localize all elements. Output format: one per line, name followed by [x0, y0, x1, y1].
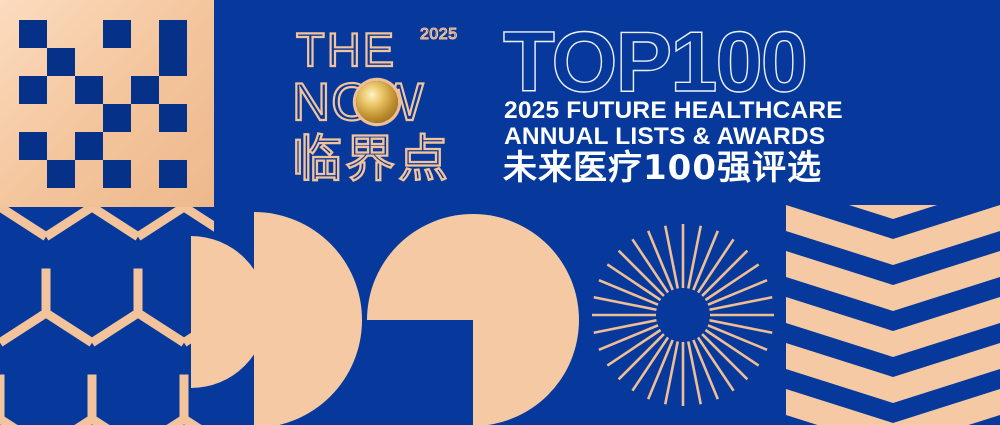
checkerboard-cell	[131, 132, 159, 160]
logo-word-the: THE	[296, 26, 396, 73]
checkerboard-cell	[19, 48, 47, 76]
semicircle-large	[254, 212, 362, 425]
headline-block: TOP100 2025 FUTURE HEALTHCARE ANNUAL LIS…	[503, 20, 973, 195]
checkerboard-cell	[103, 48, 131, 76]
checkerboard-cell	[159, 48, 187, 76]
checkerboard-cell	[131, 20, 159, 48]
checkerboard-cell	[131, 76, 159, 104]
checkerboard-cell	[159, 76, 187, 104]
hexagon-lattice-edge	[138, 419, 184, 425]
diagonal-stripe	[893, 297, 1000, 357]
hexagon-lattice-edge	[46, 313, 92, 343]
checkerboard-cell	[47, 132, 75, 160]
checkerboard-cell	[47, 48, 75, 76]
notched-disc-svg	[367, 210, 579, 425]
logo-chinese-name: 临界点	[292, 134, 451, 184]
checkerboard-cell	[19, 104, 47, 132]
checkerboard-cell	[131, 104, 159, 132]
checkerboard-cell	[103, 76, 131, 104]
checkerboard-cell	[19, 76, 47, 104]
headline-top100: TOP100	[503, 20, 806, 105]
checkerboard-cell	[75, 104, 103, 132]
diagonal-stripe	[786, 297, 893, 357]
checkerboard-cell	[103, 20, 131, 48]
hexagon-lattice-edge	[0, 419, 46, 425]
checkerboard-cell	[131, 48, 159, 76]
logo-year-2025: 2025	[420, 27, 458, 43]
checkerboard-cell	[75, 160, 103, 188]
sunburst-ray	[619, 251, 664, 296]
headline-english-line2: ANNUAL LISTS & AWARDS	[504, 125, 825, 150]
checkerboard-cell	[75, 48, 103, 76]
hexagon-lattice-edge	[0, 313, 46, 343]
hexagon-lattice-edge	[92, 207, 138, 237]
sunburst-decoration	[590, 222, 776, 408]
hexagon-lattice-edge	[184, 207, 214, 237]
checkerboard-cell	[19, 132, 47, 160]
diagonal-stripes-svg	[786, 205, 1000, 425]
checkerboard-cell	[131, 160, 159, 188]
checkerboard-cell	[103, 104, 131, 132]
headline-english-line1: 2025 FUTURE HEALTHCARE	[504, 99, 843, 124]
checkerboard-cell	[47, 104, 75, 132]
disc-notch	[367, 320, 473, 425]
hexagon-lattice-edge	[46, 207, 92, 237]
sunburst-svg	[590, 222, 776, 408]
checkerboard-cell	[19, 20, 47, 48]
checkerboard-cell	[159, 132, 187, 160]
checkerboard-cell	[47, 76, 75, 104]
sunburst-ray	[702, 334, 747, 379]
sunburst-ray	[702, 251, 747, 296]
checkerboard-cell	[75, 76, 103, 104]
notched-disc-decoration	[367, 210, 579, 425]
diagonal-stripe	[786, 205, 893, 265]
diagonal-stripe	[893, 251, 1000, 311]
checkerboard-cell	[47, 160, 75, 188]
checkerboard-cell	[75, 132, 103, 160]
diagonal-stripe	[893, 205, 1000, 265]
checkerboard-cell	[159, 20, 187, 48]
diagonal-stripe	[786, 343, 893, 403]
gold-orb-icon	[356, 81, 398, 123]
headline-chinese-line: 未来医疗100强评选	[503, 151, 822, 185]
hexagon-lattice-edge	[46, 419, 92, 425]
hexagon-lattice-edge	[184, 419, 214, 425]
hexagon-lattice-svg	[0, 207, 214, 425]
checkerboard-cell	[47, 20, 75, 48]
hexagon-lattice-edge	[0, 207, 46, 237]
diagonal-stripe	[786, 251, 893, 311]
checkerboard-cell	[103, 160, 131, 188]
hexagon-lattice-edge	[138, 313, 184, 343]
hexagon-lattice-edge	[138, 207, 184, 237]
checkerboard-cell	[159, 104, 187, 132]
sunburst-ray	[619, 334, 664, 379]
hexagon-lattice-edge	[92, 419, 138, 425]
diagonal-stripe	[893, 343, 1000, 403]
hexagon-lattice-edge	[92, 313, 138, 343]
diagonal-stripes-decoration	[786, 205, 1000, 425]
checkerboard-cell	[75, 20, 103, 48]
checkerboard-panel	[0, 0, 214, 207]
checkerboard-cell	[19, 160, 47, 188]
hexagon-lattice-decoration	[0, 207, 214, 425]
checkerboard-cell	[159, 160, 187, 188]
checkerboard-grid	[19, 20, 187, 188]
checkerboard-cell	[103, 132, 131, 160]
banner-root: THE 2025 NOW 临界点 TOP100 2025 FUTURE HEAL…	[0, 0, 1000, 425]
